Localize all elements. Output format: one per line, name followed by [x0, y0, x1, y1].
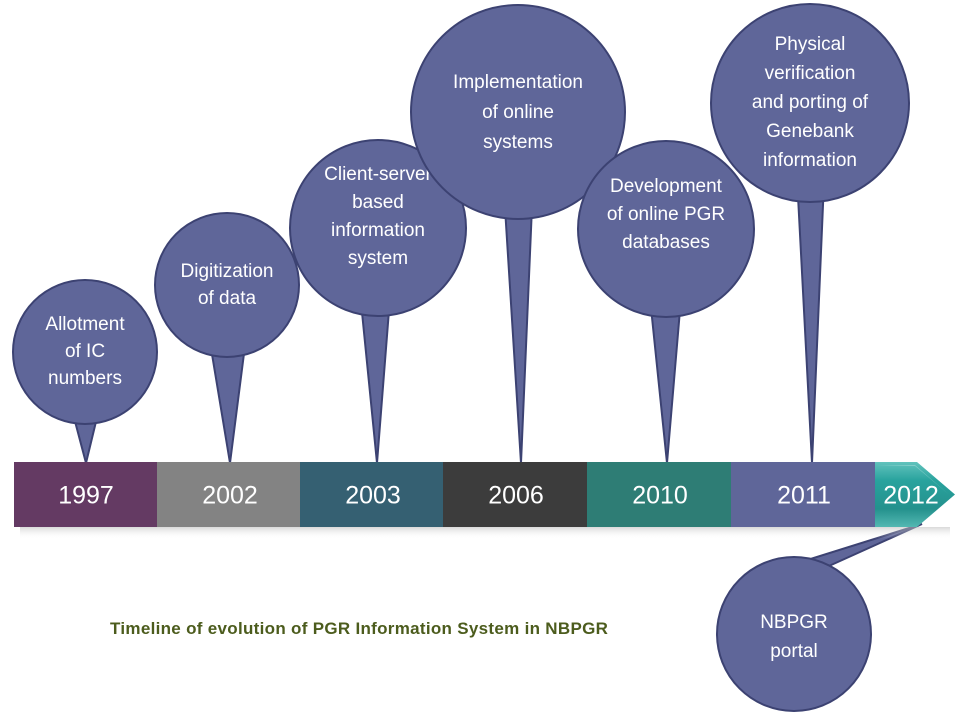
tail-2011	[796, 158, 825, 463]
year-label-2006: 2006	[488, 482, 544, 510]
bubble-line-2006-0: Implementation	[453, 72, 583, 93]
figure-caption: Timeline of evolution of PGR Information…	[110, 619, 608, 638]
bubble-line-2011-4: information	[763, 150, 857, 171]
year-label-2003: 2003	[345, 482, 401, 510]
callout-bubble-2012[interactable]: NBPGR portal	[717, 557, 871, 711]
bubble-line-2010-1: of online PGR	[607, 204, 725, 225]
bubble-line-2002-1: of data	[198, 288, 257, 309]
bubble-line-2006-1: of online	[482, 102, 554, 123]
year-label-2012: 2012	[883, 482, 939, 510]
callout-bubbles: Allotment of IC numbers Digitization of …	[13, 4, 909, 711]
bubble-circle-2002	[155, 213, 299, 357]
bubble-line-2010-2: databases	[622, 232, 710, 253]
bubble-line-2002-0: Digitization	[181, 261, 274, 282]
timeline-bar-shadow	[20, 527, 950, 539]
year-label-2002: 2002	[202, 482, 258, 510]
bubble-line-2006-2: systems	[483, 132, 553, 153]
bubble-line-2003-3: system	[348, 248, 408, 269]
timeline-diagram: 1997 2002 2003 2006 2010 2011 2012 Allot…	[0, 0, 960, 720]
bubble-circle-2012	[717, 557, 871, 711]
bubble-line-1997-1: of IC	[65, 341, 105, 362]
bubble-line-2011-3: Genebank	[766, 121, 854, 142]
year-label-1997: 1997	[58, 482, 114, 510]
year-label-2011: 2011	[777, 482, 831, 510]
bubble-circle-2010	[578, 141, 754, 317]
bubble-line-2003-2: information	[331, 220, 425, 241]
timeline-bar: 1997 2002 2003 2006 2010 2011 2012	[14, 462, 955, 539]
callout-bubble-2002[interactable]: Digitization of data	[155, 213, 299, 357]
year-label-2010: 2010	[632, 482, 688, 510]
bubble-line-2010-0: Development	[610, 176, 723, 197]
callout-bubble-1997[interactable]: Allotment of IC numbers	[13, 280, 157, 424]
bubble-line-2003-1: based	[352, 192, 404, 213]
bubble-line-2011-2: and porting of	[752, 92, 869, 113]
bubble-line-2012-0: NBPGR	[760, 612, 828, 633]
bubble-line-2011-0: Physical	[775, 34, 846, 55]
bubble-line-2011-1: verification	[765, 63, 856, 84]
bubble-line-2012-1: portal	[770, 641, 818, 662]
diagram-canvas: 1997 2002 2003 2006 2010 2011 2012 Allot…	[0, 0, 960, 720]
callout-bubble-2011[interactable]: Physical verification and porting of Gen…	[711, 4, 909, 202]
tail-2010	[650, 298, 681, 463]
callout-bubble-2010[interactable]: Development of online PGR databases	[578, 141, 754, 317]
bubble-line-1997-0: Allotment	[45, 314, 125, 335]
bubble-line-1997-2: numbers	[48, 368, 122, 389]
bubble-line-2003-0: Client-server	[324, 164, 432, 185]
